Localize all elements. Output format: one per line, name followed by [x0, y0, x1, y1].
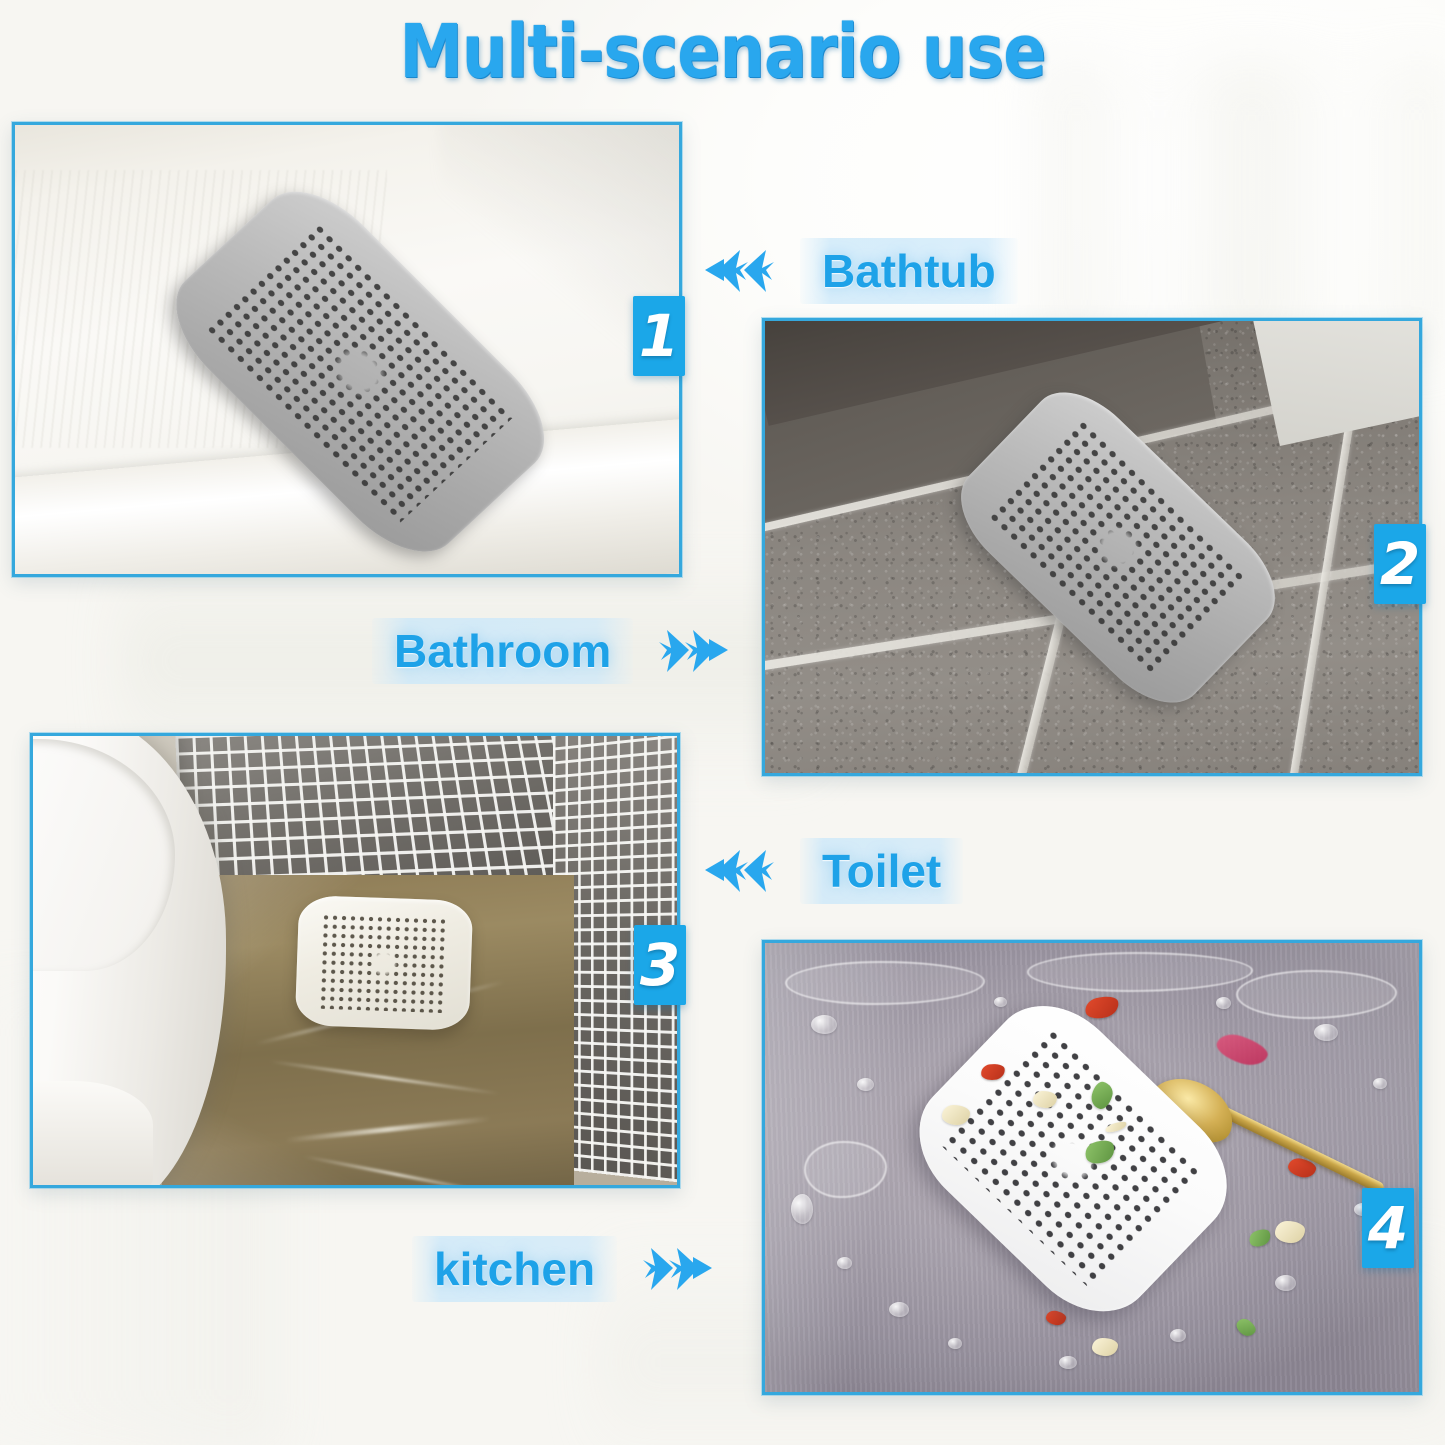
water-droplet	[791, 1194, 813, 1224]
water-droplet	[1314, 1024, 1338, 1041]
callout-label-bathtub: Bathtub	[800, 238, 1018, 304]
marble-vein	[303, 1155, 490, 1188]
drain-cover-product	[295, 895, 473, 1031]
water-droplet	[1059, 1356, 1077, 1369]
background-blur-right	[1040, 60, 1445, 360]
step-badge-3: 3	[634, 925, 686, 1005]
water-droplet	[811, 1015, 837, 1034]
double-chevron-right-icon	[643, 1244, 717, 1294]
water-droplet	[1373, 1078, 1387, 1089]
scenario-photo-toilet	[30, 733, 680, 1188]
scenario-photo-bathroom	[762, 318, 1422, 776]
double-chevron-left-icon	[700, 846, 774, 896]
double-chevron-left-icon	[700, 246, 774, 296]
callout-bathtub: Bathtub	[700, 238, 1018, 304]
infographic-poster: Multi-scenario use	[0, 0, 1445, 1445]
callout-label-kitchen: kitchen	[412, 1236, 617, 1302]
water-droplet	[857, 1078, 874, 1091]
water-droplet	[1216, 997, 1231, 1009]
drain-holes	[318, 912, 450, 1013]
callout-toilet: Toilet	[700, 838, 963, 904]
callout-kitchen: kitchen	[412, 1236, 717, 1302]
bathtub-scene	[15, 125, 679, 574]
double-chevron-right-icon	[659, 626, 733, 676]
callout-label-toilet: Toilet	[800, 838, 963, 904]
step-badge-4: 4	[1362, 1188, 1414, 1268]
scenario-photo-kitchen	[762, 940, 1422, 1395]
scenario-photo-bathtub	[12, 122, 682, 577]
marble-vein	[286, 1117, 491, 1144]
water-droplet	[994, 997, 1007, 1007]
food-scrap-on-cover	[942, 1105, 970, 1125]
step-badge-1: 1	[633, 296, 685, 376]
water-droplet	[948, 1338, 962, 1349]
step-badge-2: 2	[1374, 524, 1426, 604]
water-droplet	[1275, 1275, 1296, 1291]
marble-vein	[270, 1060, 499, 1095]
toilet-base	[30, 1081, 153, 1188]
callout-label-bathroom: Bathroom	[372, 618, 633, 684]
page-title: Multi-scenario use	[101, 6, 1344, 98]
water-droplet	[837, 1257, 852, 1269]
callout-bathroom: Bathroom	[372, 618, 733, 684]
bathroom-floor-scene	[765, 321, 1419, 773]
drain-hole-pattern	[318, 912, 450, 1013]
kitchen-sink-scene	[765, 943, 1419, 1392]
toilet-scene	[33, 736, 677, 1185]
toilet-lid	[30, 739, 175, 970]
